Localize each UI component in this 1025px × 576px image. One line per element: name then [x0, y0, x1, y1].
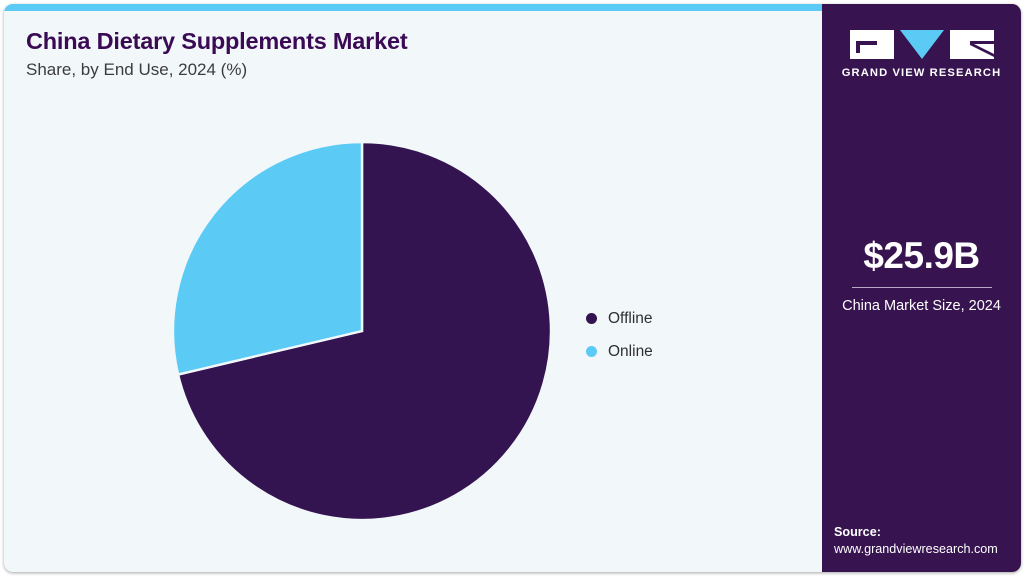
g-block-icon	[850, 30, 894, 59]
source-url[interactable]: www.grandviewresearch.com	[834, 541, 1020, 558]
legend-label-online: Online	[608, 344, 653, 360]
legend-item-offline[interactable]: Offline	[586, 302, 786, 335]
source-heading: Source:	[834, 524, 1020, 541]
chart-legend: Offline Online	[586, 302, 786, 368]
source-block: Source: www.grandviewresearch.com	[834, 524, 1020, 558]
chart-main-area: China Dietary Supplements Market Share, …	[4, 4, 822, 572]
legend-item-online[interactable]: Online	[586, 335, 786, 368]
legend-label-offline: Offline	[608, 311, 653, 327]
page-subtitle: Share, by End Use, 2024 (%)	[26, 60, 766, 80]
sidebar-panel: GRAND VIEW RESEARCH $25.9B China Market …	[822, 4, 1021, 572]
market-size-label: China Market Size, 2024	[822, 297, 1021, 317]
page-title: China Dietary Supplements Market	[26, 28, 766, 56]
pie-chart-svg	[169, 138, 559, 528]
metric-divider	[852, 287, 992, 288]
r-block-icon	[950, 30, 994, 59]
brand-logo: GRAND VIEW RESEARCH	[822, 30, 1021, 79]
legend-swatch-online	[586, 346, 597, 357]
market-size-metric: $25.9B China Market Size, 2024	[822, 237, 1021, 316]
legend-swatch-offline	[586, 313, 597, 324]
chart-card: China Dietary Supplements Market Share, …	[4, 4, 1021, 572]
logo-marks	[822, 30, 1021, 60]
title-block: China Dietary Supplements Market Share, …	[26, 28, 766, 80]
logo-wordmark: GRAND VIEW RESEARCH	[822, 67, 1021, 79]
pie-chart	[169, 138, 559, 528]
market-size-value: $25.9B	[822, 237, 1021, 276]
v-triangle-icon	[900, 30, 944, 59]
